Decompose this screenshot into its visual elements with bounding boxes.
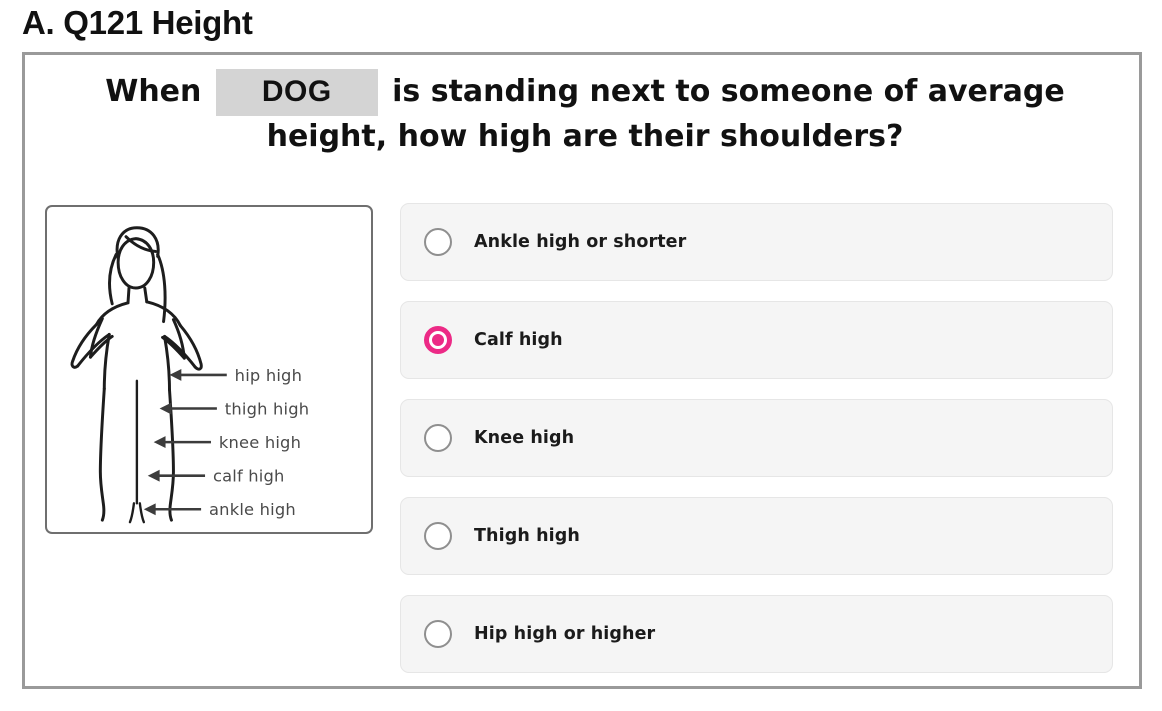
answer-options-list: Ankle high or shorter Calf high Knee hig… xyxy=(400,203,1113,673)
arrow-label-hip-high: hip high xyxy=(235,366,302,385)
radio-button-icon[interactable] xyxy=(424,620,452,648)
option-label: Calf high xyxy=(474,330,563,350)
option-row-ankle-high-or-shorter[interactable]: Ankle high or shorter xyxy=(400,203,1113,281)
option-label: Hip high or higher xyxy=(474,624,655,644)
option-row-calf-high[interactable]: Calf high xyxy=(400,301,1113,379)
option-row-knee-high[interactable]: Knee high xyxy=(400,399,1113,477)
radio-button-icon[interactable] xyxy=(424,228,452,256)
arrow-label-knee-high: knee high xyxy=(219,433,301,452)
radio-button-icon[interactable] xyxy=(424,424,452,452)
option-row-hip-high-or-higher[interactable]: Hip high or higher xyxy=(400,595,1113,673)
radio-button-selected-icon[interactable] xyxy=(424,326,452,354)
question-prefix: When xyxy=(105,74,201,109)
page-title: A. Q121 Height xyxy=(22,4,253,42)
question-suffix: is standing next to someone of average h… xyxy=(267,74,1065,154)
arrow-ankle-high: ankle high xyxy=(144,500,296,519)
option-label: Thigh high xyxy=(474,526,580,546)
arrow-label-calf-high: calf high xyxy=(213,467,285,486)
question-variable-chip: DOG xyxy=(216,69,378,116)
question-stem: When DOG is standing next to someone of … xyxy=(43,69,1127,157)
arrow-thigh-high: thigh high xyxy=(160,399,310,418)
radio-button-icon[interactable] xyxy=(424,522,452,550)
arrow-label-thigh-high: thigh high xyxy=(225,399,310,418)
option-label: Ankle high or shorter xyxy=(474,232,686,252)
height-reference-illustration: hip high thigh high knee high calf high xyxy=(45,205,373,534)
arrow-label-ankle-high: ankle high xyxy=(209,500,296,519)
arrow-knee-high: knee high xyxy=(154,433,301,452)
question-card: When DOG is standing next to someone of … xyxy=(22,52,1142,689)
arrow-hip-high: hip high xyxy=(169,366,302,385)
arrow-calf-high: calf high xyxy=(148,467,285,486)
option-row-thigh-high[interactable]: Thigh high xyxy=(400,497,1113,575)
option-label: Knee high xyxy=(474,428,574,448)
